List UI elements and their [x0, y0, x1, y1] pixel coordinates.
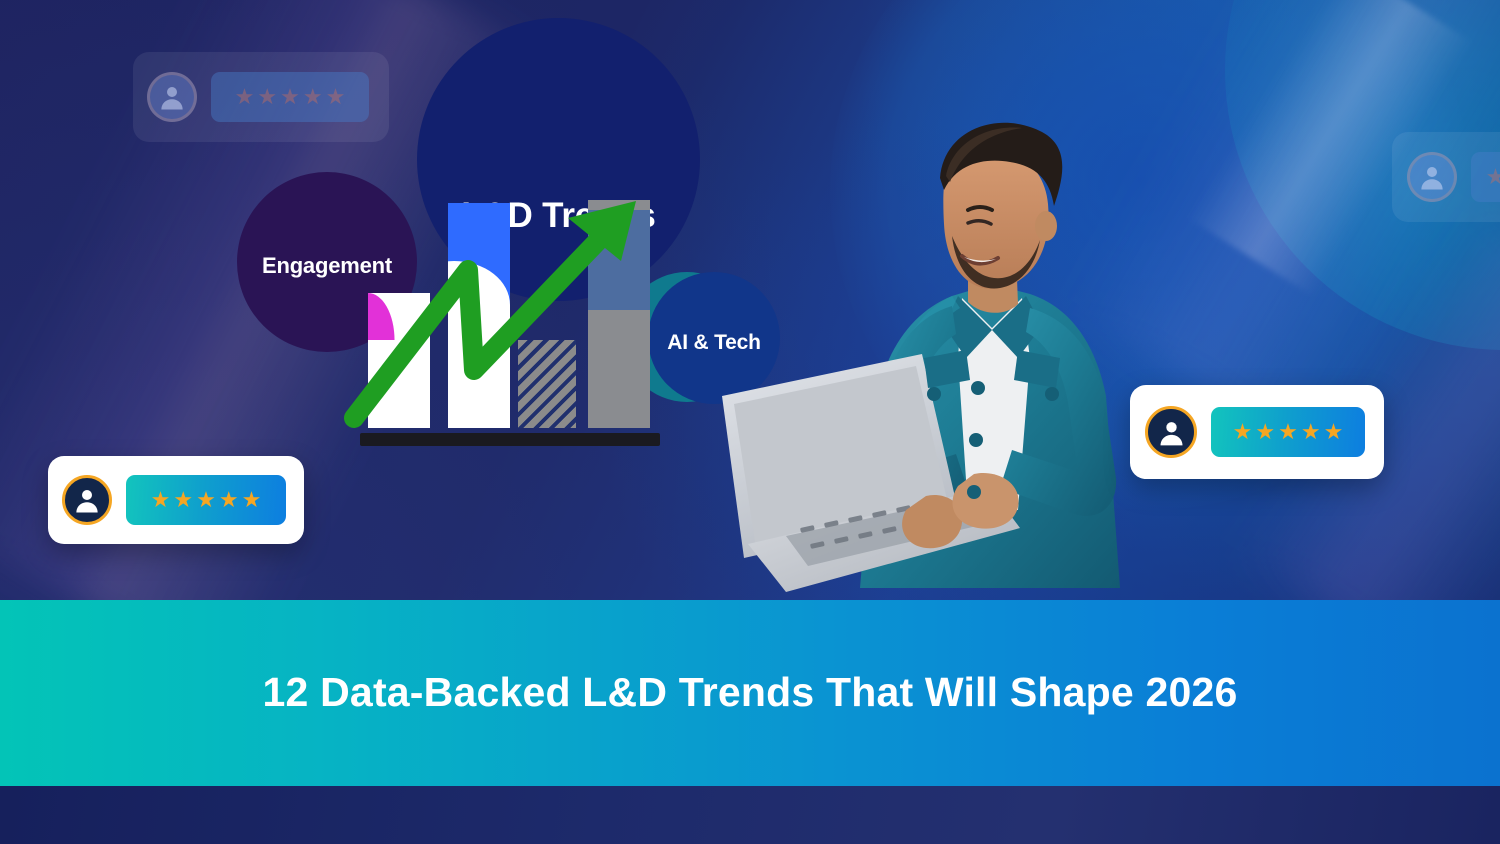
title-banner: 12 Data-Backed L&D Trends That Will Shap… [0, 600, 1500, 786]
review-card-ghost-top-right: ★ ★ ★ ★ ★ [1392, 132, 1500, 222]
star-icon: ★ [235, 86, 255, 108]
star-icon: ★ [1324, 421, 1344, 443]
star-icon: ★ [151, 489, 171, 511]
avatar-icon [1145, 406, 1197, 458]
avatar-icon [62, 475, 112, 525]
avatar-icon [1407, 152, 1457, 202]
page-title: 12 Data-Backed L&D Trends That Will Shap… [263, 661, 1238, 725]
star-icon: ★ [303, 86, 323, 108]
star-icon: ★ [1278, 421, 1298, 443]
star-icon: ★ [219, 489, 239, 511]
star-icon: ★ [196, 489, 216, 511]
avatar-icon [147, 72, 197, 122]
review-card-bottom-right[interactable]: ★ ★ ★ ★ ★ [1130, 385, 1384, 479]
review-card-ghost-top-left: ★ ★ ★ ★ ★ [133, 52, 389, 142]
star-icon: ★ [242, 489, 262, 511]
trend-arrow-icon [340, 185, 650, 435]
star-icon: ★ [173, 489, 193, 511]
star-rating-ghost: ★ ★ ★ ★ ★ [211, 72, 369, 122]
star-rating: ★ ★ ★ ★ ★ [1211, 407, 1365, 457]
review-card-bottom-left[interactable]: ★ ★ ★ ★ ★ [48, 456, 304, 544]
star-rating: ★ ★ ★ ★ ★ [126, 475, 286, 525]
person-with-laptop-photo [700, 58, 1260, 603]
poster-canvas: ★ ★ ★ ★ ★ ★ ★ ★ ★ ★ Engagement L&D Trend… [0, 0, 1500, 844]
star-icon: ★ [1301, 421, 1321, 443]
star-icon: ★ [280, 86, 300, 108]
star-rating-ghost: ★ ★ ★ ★ ★ [1471, 152, 1500, 202]
bottom-strip [0, 786, 1500, 844]
star-icon: ★ [326, 86, 346, 108]
star-icon: ★ [257, 86, 277, 108]
star-icon: ★ [1255, 421, 1275, 443]
star-icon: ★ [1233, 421, 1253, 443]
star-icon: ★ [1486, 166, 1500, 188]
